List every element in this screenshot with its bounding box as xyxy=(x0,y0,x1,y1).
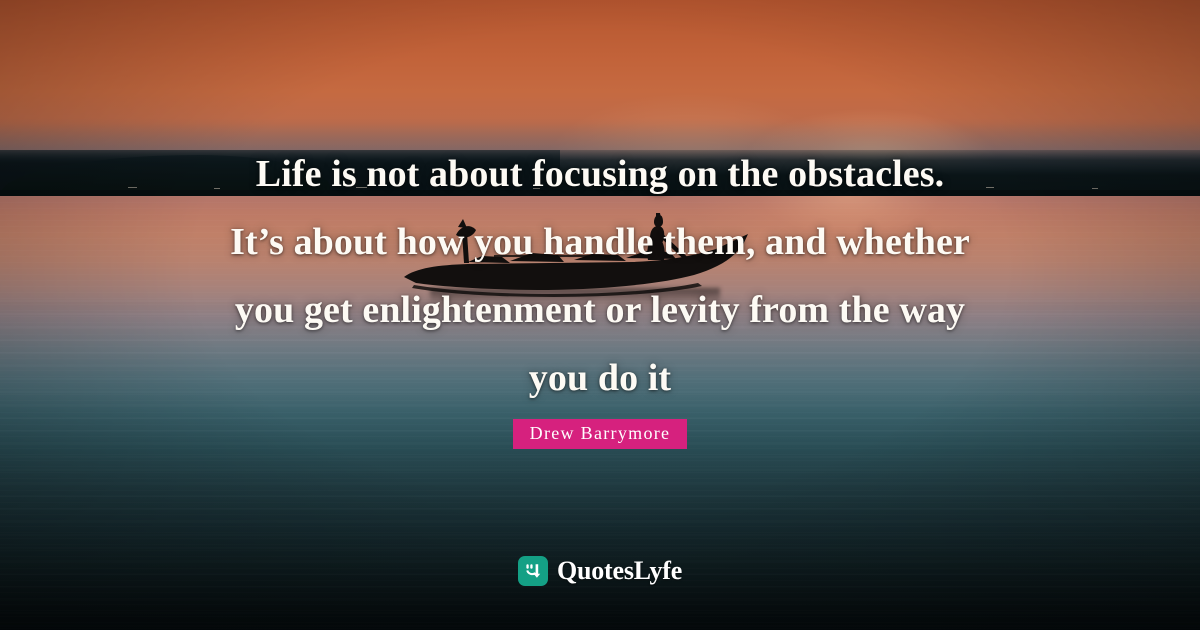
quote-mark-icon xyxy=(518,556,548,586)
author-attribution: Drew Barrymore xyxy=(0,419,1200,449)
quote-line-2: It’s about how you handle them, and whet… xyxy=(0,208,1200,276)
quote-line-4: you do it xyxy=(0,344,1200,412)
author-name-badge[interactable]: Drew Barrymore xyxy=(513,419,688,449)
quote-line-3: you get enlightenment or levity from the… xyxy=(0,276,1200,344)
logo-wordmark: QuotesLyfe xyxy=(557,556,682,586)
site-logo[interactable]: QuotesLyfe xyxy=(0,556,1200,586)
quote-card: Life is not about focusing on the obstac… xyxy=(0,0,1200,630)
quote-text: Life is not about focusing on the obstac… xyxy=(0,140,1200,412)
quote-line-1: Life is not about focusing on the obstac… xyxy=(0,140,1200,208)
